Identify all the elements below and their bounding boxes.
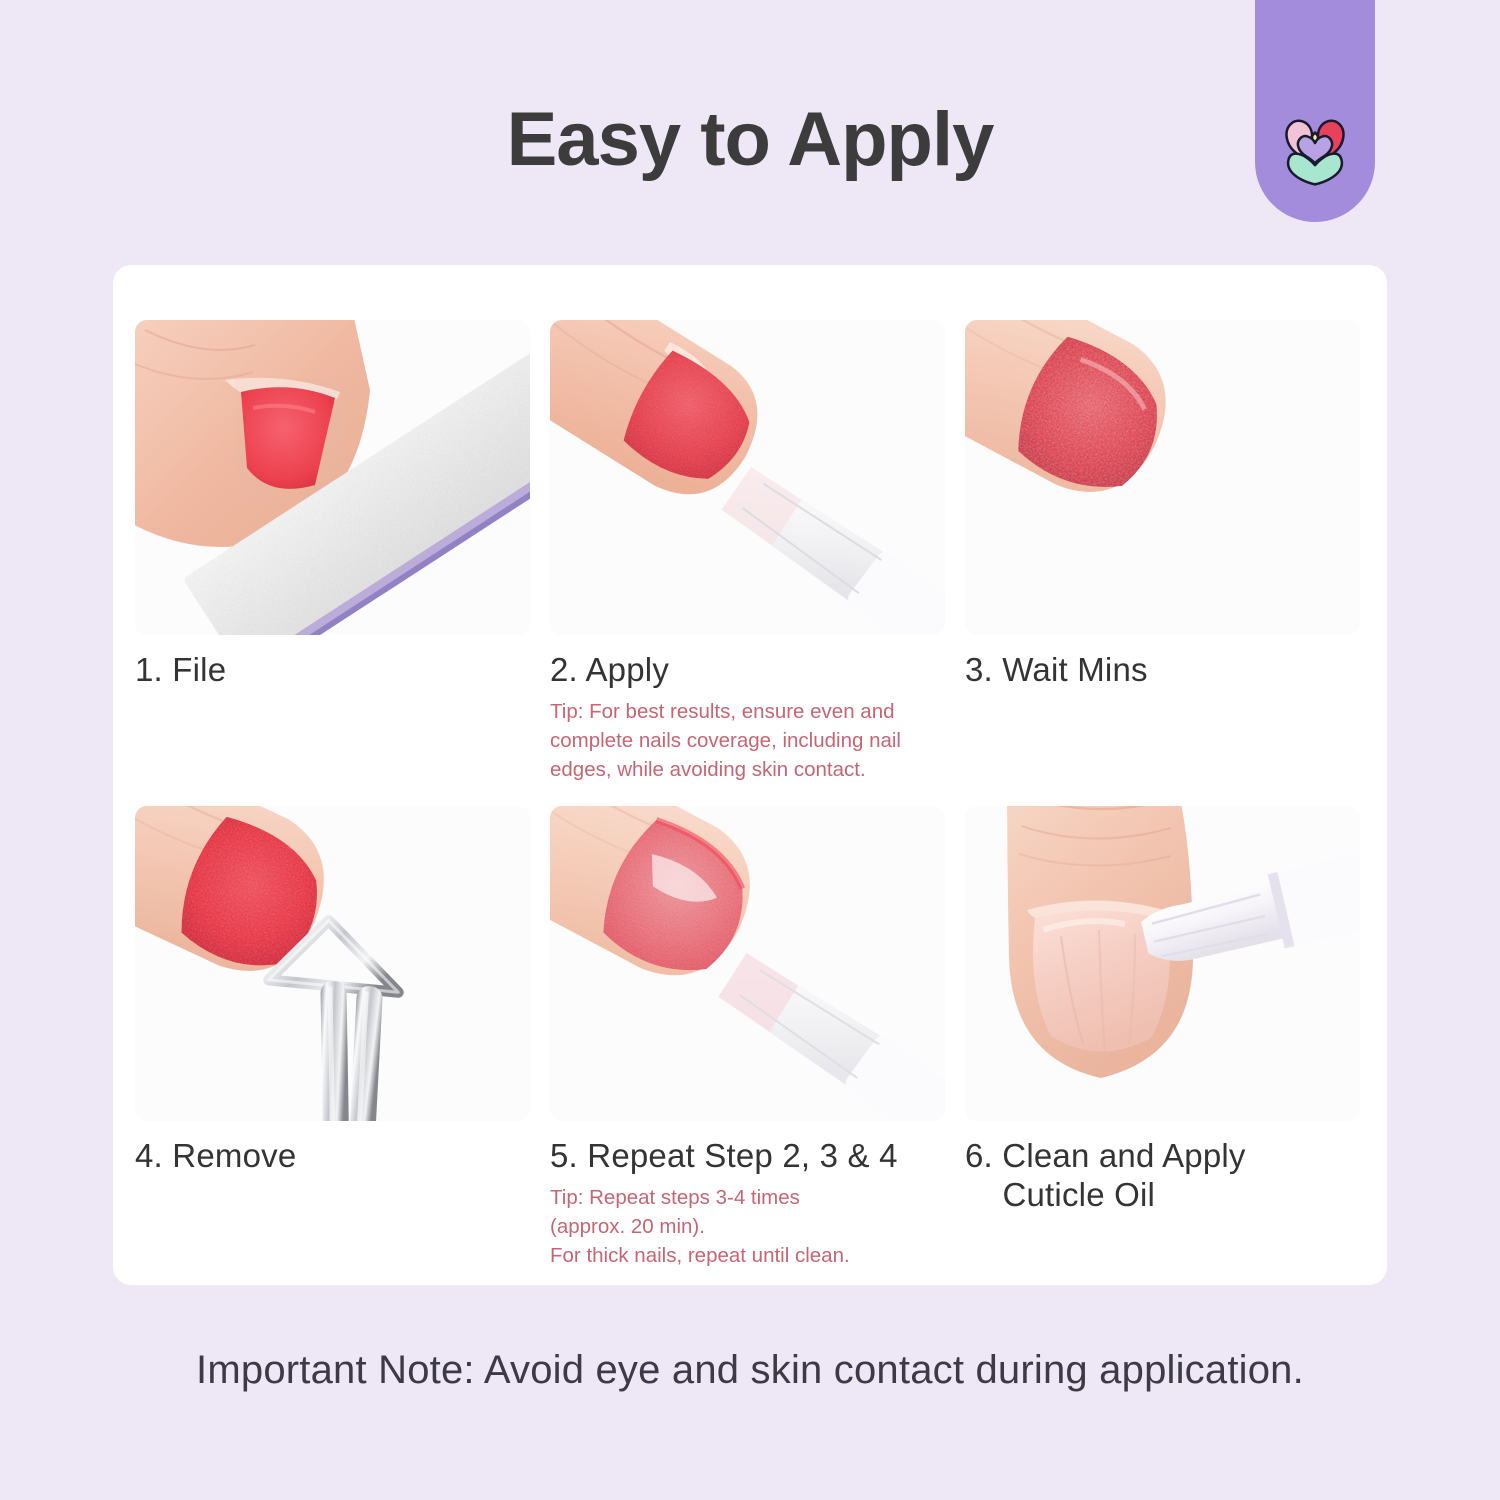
photo-clean-cuticle-oil-pen (965, 806, 1360, 1121)
step-2-label: 2. Apply (550, 651, 945, 690)
step-2-tip: Tip: For best results, ensure even and c… (550, 697, 945, 784)
step-6-label: 6. Clean and Apply Cuticle Oil (965, 1137, 1360, 1215)
step-1: 1. File (135, 320, 530, 784)
step-4: 4. Remove (135, 806, 530, 1270)
steps-card: 1. File (113, 265, 1387, 1285)
step-3: 3. Wait Mins (965, 320, 1360, 784)
photo-apply-red-gel-brush (550, 320, 945, 635)
photo-wait-red-gel-set (965, 320, 1360, 635)
photo-repeat-reapply-brush (550, 806, 945, 1121)
page-title: Easy to Apply (0, 96, 1500, 183)
step-3-label: 3. Wait Mins (965, 651, 1360, 690)
photo-remove-metal-scraper (135, 806, 530, 1121)
photo-file-nail-with-file (135, 320, 530, 635)
step-6: 6. Clean and Apply Cuticle Oil (965, 806, 1360, 1270)
step-5-label: 5. Repeat Step 2, 3 & 4 (550, 1137, 945, 1176)
step-2: 2. Apply Tip: For best results, ensure e… (550, 320, 945, 784)
step-5: 5. Repeat Step 2, 3 & 4 Tip: Repeat step… (550, 806, 945, 1270)
footer-important-note: Important Note: Avoid eye and skin conta… (0, 1348, 1500, 1393)
steps-grid: 1. File (135, 320, 1365, 1271)
step-5-tip: Tip: Repeat steps 3-4 times (approx. 20 … (550, 1183, 945, 1270)
step-4-label: 4. Remove (135, 1137, 530, 1176)
step-1-label: 1. File (135, 651, 530, 690)
